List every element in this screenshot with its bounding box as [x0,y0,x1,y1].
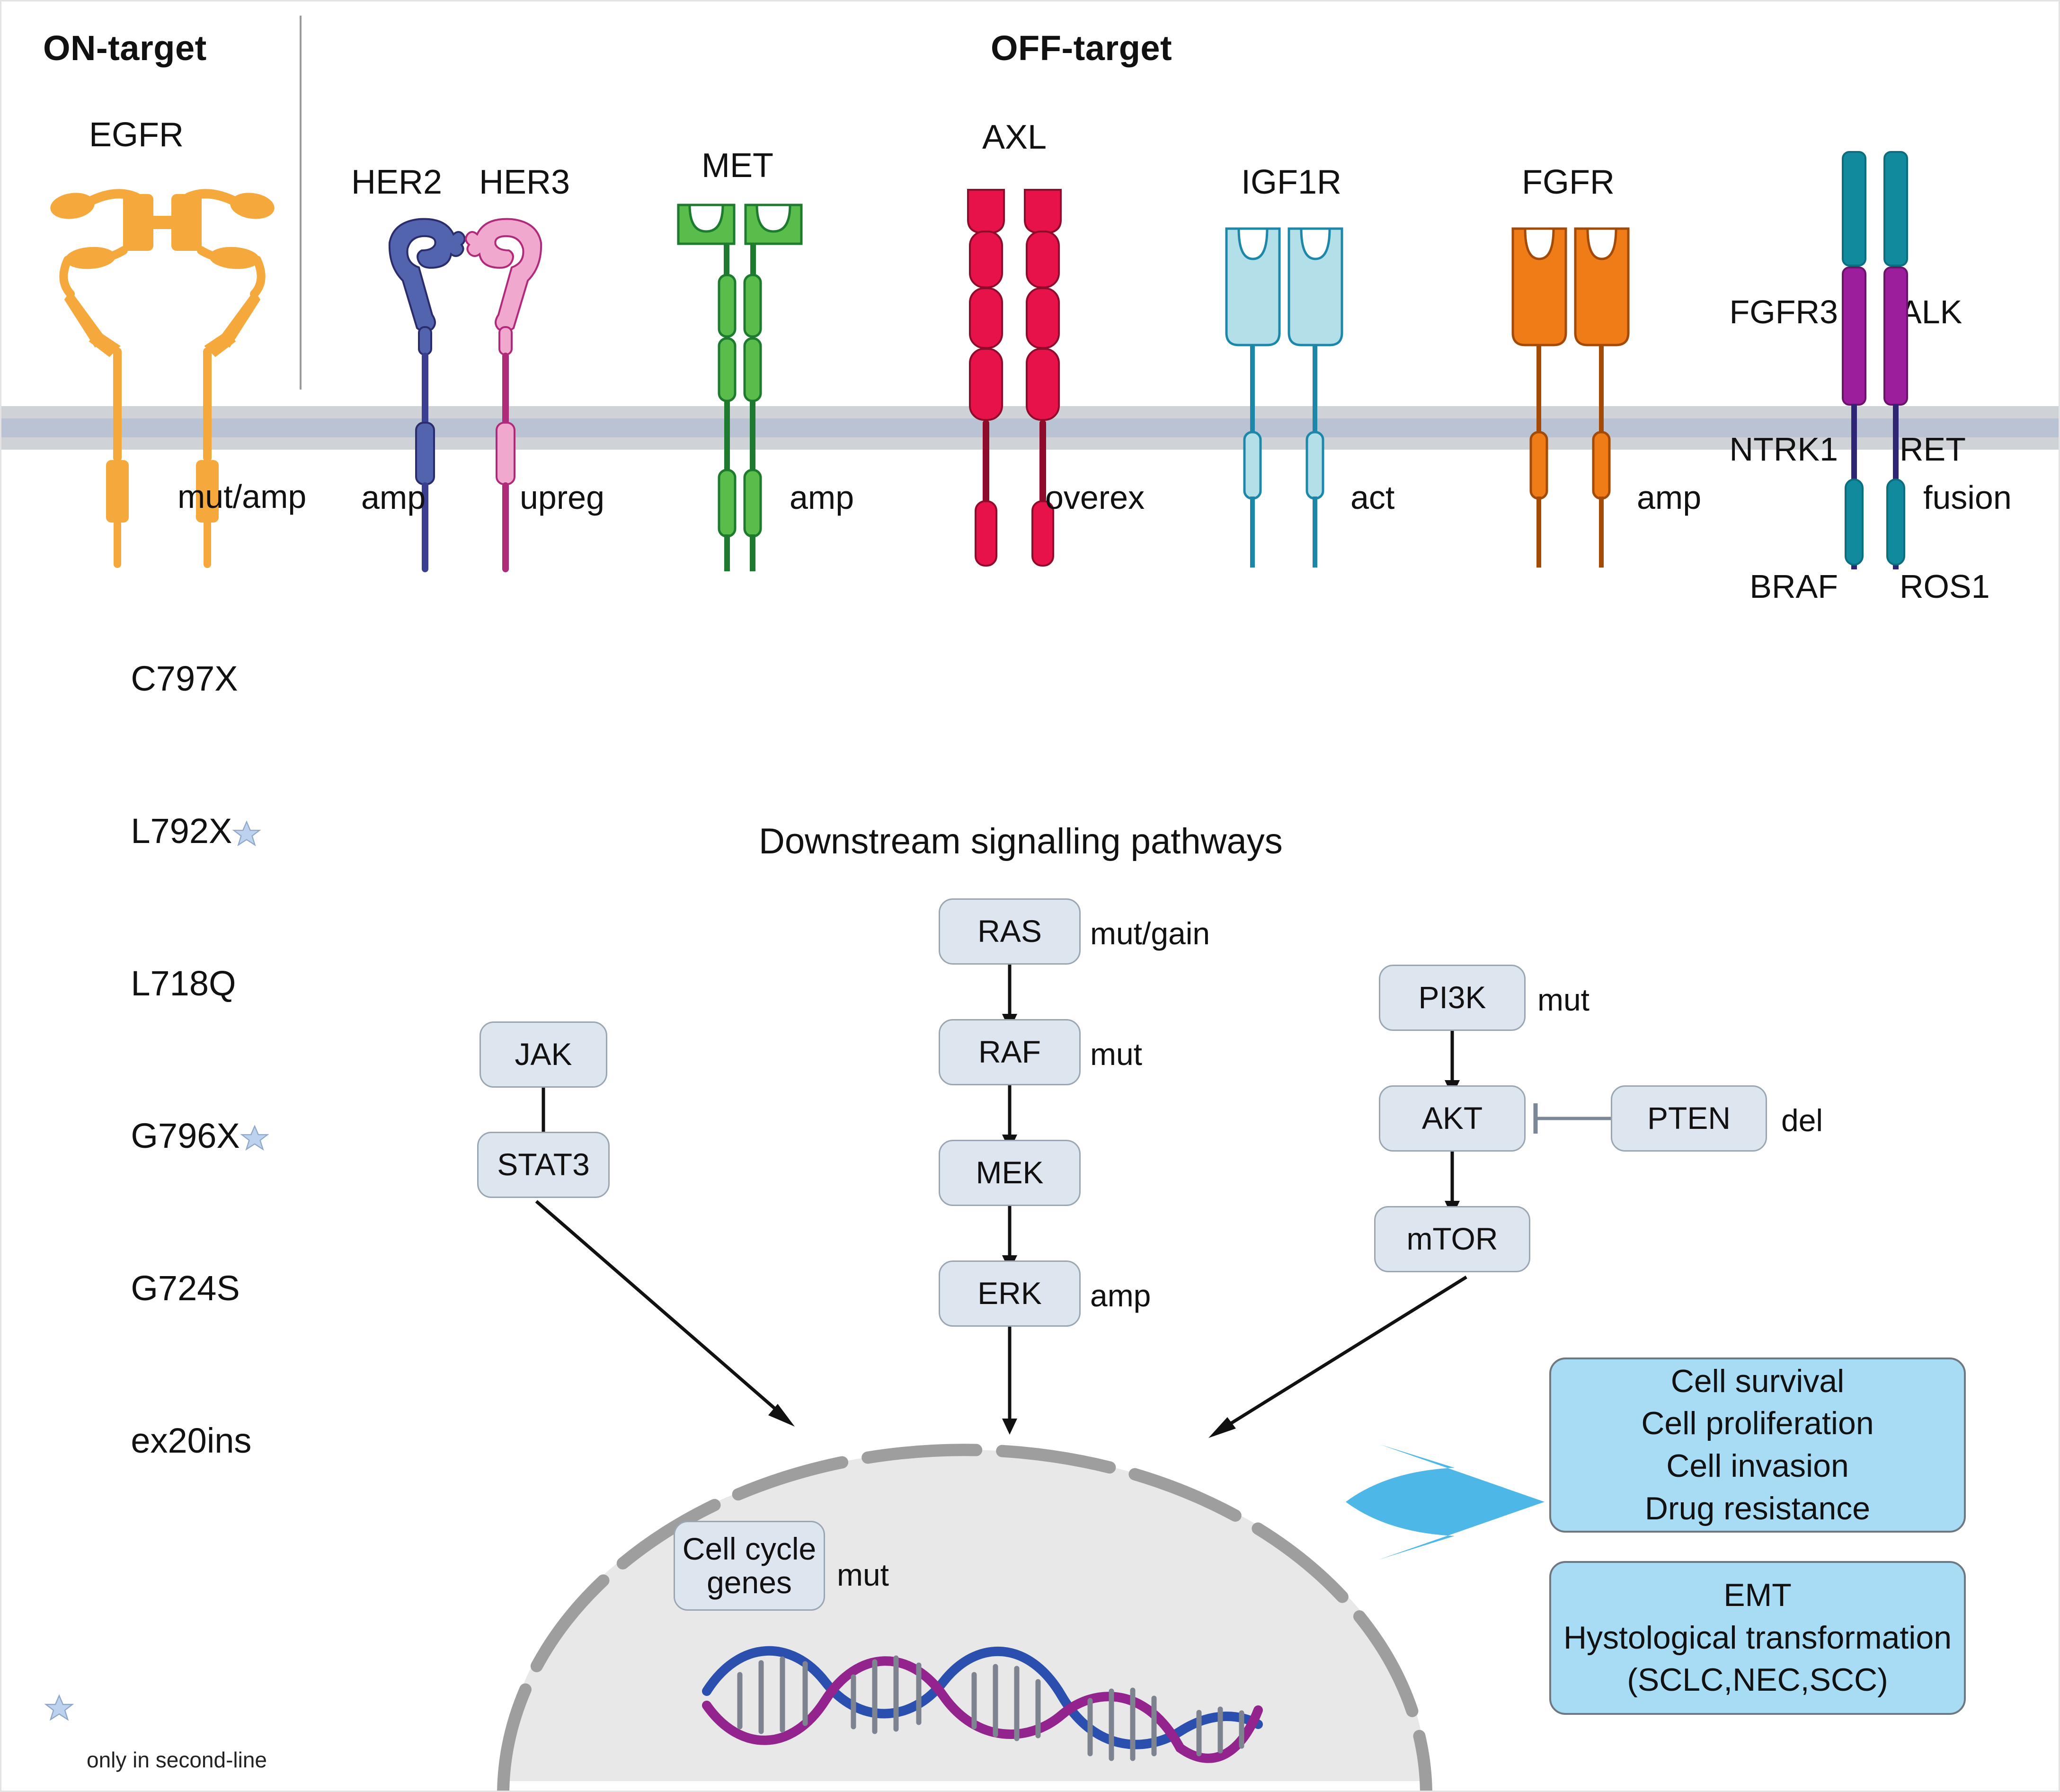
mutation-row: G796X [72,1060,269,1212]
alteration-label-fgfr: amp [1637,480,1701,515]
receptor-her2-her3-glyph [366,205,565,579]
fusion-partner-label: FGFR3 [1705,289,1838,335]
mutation-row: ex20ins [72,1364,269,1517]
alteration-label-met: amp [790,480,854,515]
node-label: STAT3 [497,1148,590,1181]
receptor-label-egfr: EGFR [49,117,224,153]
fusion-partner-label: ROS1 [1900,564,2032,610]
outcome-box-transformation: EMT Hystological transformation (SCLC,NE… [1549,1561,1966,1715]
mutation-row: L718Q [72,907,269,1060]
outcome-line: Cell invasion [1666,1445,1849,1488]
outcome-line: Cell survival [1671,1360,1845,1403]
arrow-erk-to-nucleus [995,1327,1024,1436]
star-icon [44,1693,74,1723]
alteration-label-her3: upreg [520,480,604,515]
node-mek[interactable]: MEK [939,1140,1081,1206]
outcome-line: (SCLC,NEC,SCC) [1627,1659,1888,1702]
receptor-fusion-glyph [1833,148,1918,574]
node-mtor[interactable]: mTOR [1374,1206,1530,1272]
node-cell-cycle-genes[interactable]: Cell cycle genes [674,1521,825,1611]
legend-line-1: only in second-line [87,1745,297,1774]
dna-helix-icon [697,1630,1265,1772]
fusion-partner-label: RET [1900,426,2032,472]
outcome-line: Drug resistance [1645,1488,1870,1530]
outcome-line: Cell proliferation [1641,1402,1874,1445]
alteration-label-pten: del [1781,1104,1823,1137]
section-divider [300,16,302,390]
outcome-box-cell-effects: Cell survival Cell proliferation Cell in… [1549,1357,1966,1533]
fusion-partner-label: BRAF [1705,564,1838,610]
mutation-label: L718Q [131,964,236,1003]
mutation-label: G724S [131,1269,240,1308]
node-stat3[interactable]: STAT3 [477,1132,610,1198]
receptor-label-fgfr: FGFR [1497,165,1639,201]
alteration-label-ras: mut/gain [1090,917,1210,950]
mutation-label: C797X [131,659,238,698]
receptor-axl-glyph [958,186,1071,574]
node-label-line2: genes [707,1566,792,1599]
alteration-label-fusion: fusion [1923,480,2012,515]
outcome-line: EMT [1723,1574,1792,1617]
node-pten[interactable]: PTEN [1611,1085,1767,1152]
receptor-met-glyph [674,200,806,574]
alteration-label-axl: overex [1045,480,1145,515]
downstream-title: Downstream signalling pathways [759,823,1283,861]
egfr-mutation-list: C797X L792X L718Q G796X G724S ex20ins [72,603,269,1517]
mutation-label: L792X [131,811,232,851]
mutation-row: G724S [72,1212,269,1365]
fusion-partners-left: FGFR3 NTRK1 BRAF [1705,198,1838,701]
node-pi3k[interactable]: PI3K [1379,965,1526,1031]
receptor-igf1r-glyph [1223,224,1346,574]
node-label: mTOR [1406,1222,1498,1256]
fusion-partner-label: NTRK1 [1705,426,1838,472]
mutation-row: C797X [72,603,269,755]
node-label-line1: Cell cycle [683,1532,816,1566]
node-ras[interactable]: RAS [939,898,1081,965]
alteration-label-egfr: mut/amp [178,479,306,515]
outcome-arrow-icon [1346,1436,1563,1568]
alteration-label-raf: mut [1090,1038,1142,1071]
fusion-partners-right: ALK RET ROS1 [1900,198,2032,701]
node-jak[interactable]: JAK [479,1021,607,1088]
receptor-label-her3: HER3 [463,165,586,201]
node-label: RAF [978,1035,1041,1069]
alteration-label-erk: amp [1090,1279,1151,1312]
mutation-label: G796X [131,1116,240,1155]
mutation-label: ex20ins [131,1421,251,1460]
receptor-label-her2: HER2 [335,165,458,201]
legend: only in second-line osimertinib resistan… [44,1686,297,1792]
outcome-line: Hystological transformation [1563,1617,1952,1659]
mutation-row: L792X [72,755,269,907]
figure-root: ON-target OFF-target EGFR [0,0,2060,1792]
inhibition-pten-to-akt [1523,1090,1613,1152]
node-label: MEK [976,1156,1043,1189]
receptor-label-axl: AXL [943,120,1085,156]
node-akt[interactable]: AKT [1379,1085,1526,1152]
node-raf[interactable]: RAF [939,1019,1081,1085]
section-header-off-target: OFF-target [991,30,1172,67]
node-label: ERK [977,1277,1042,1310]
receptor-label-met: MET [666,148,808,184]
node-label: RAS [977,914,1042,948]
alteration-label-her2: amp [361,480,426,515]
arrow-stat3-to-nucleus [532,1197,816,1443]
node-label: JAK [515,1038,572,1071]
alteration-label-pi3k: mut [1537,984,1589,1016]
arrow-mtor-to-nucleus [1185,1272,1474,1452]
receptor-fgfr-glyph [1509,224,1632,574]
node-erk[interactable]: ERK [939,1260,1081,1327]
receptor-label-igf1r: IGF1R [1213,165,1369,201]
fusion-partner-label: ALK [1900,289,2032,335]
alteration-label-igf1r: act [1350,480,1394,515]
section-header-on-target: ON-target [43,30,207,67]
star-icon [232,819,261,849]
star-icon [240,1124,269,1153]
node-label: AKT [1422,1101,1483,1135]
node-label: PTEN [1647,1101,1731,1135]
alteration-label-cell-cycle-genes: mut [837,1559,889,1591]
node-label: PI3K [1418,981,1486,1014]
